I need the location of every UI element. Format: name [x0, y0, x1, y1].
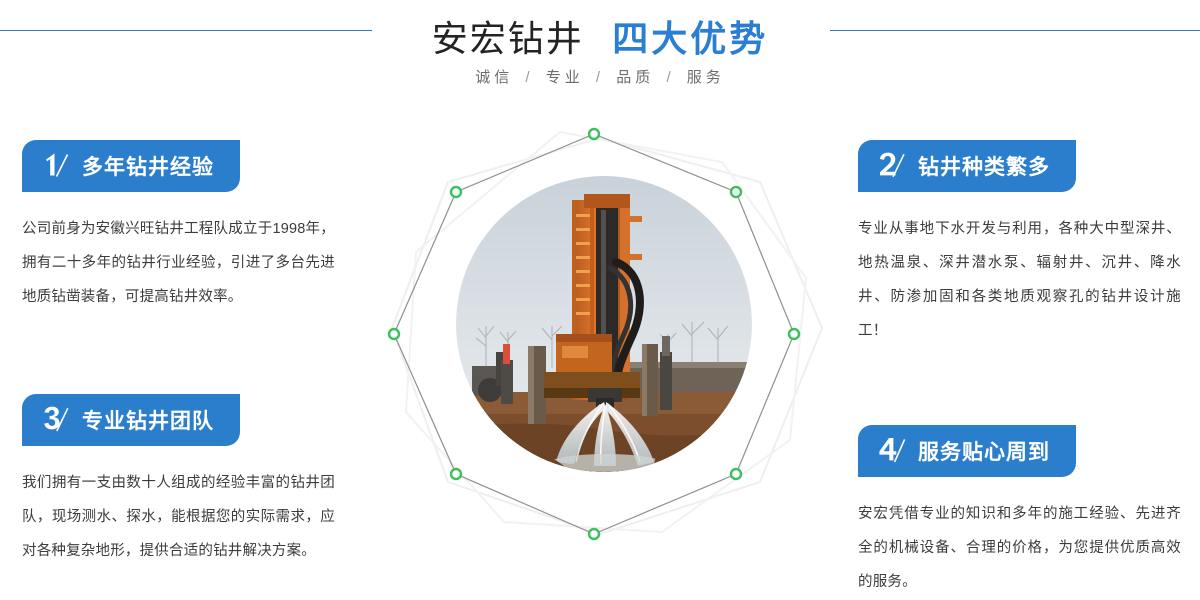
feature-card-4-badge: 服务贴心周到 [858, 425, 1076, 477]
ring-node-e [789, 329, 799, 339]
subtitle-item-4: 服务 [687, 69, 725, 86]
ring-node-n [589, 129, 599, 139]
center-graphic [370, 110, 830, 600]
drilling-rig-photo [456, 176, 752, 472]
feature-card-2: 钻井种类繁多 专业从事地下水开发与利用，各种大中型深井、地热温泉、深井潜水泵、辐… [858, 140, 1188, 348]
number-one-icon [40, 149, 70, 183]
feature-card-1-badge: 多年钻井经验 [22, 140, 240, 192]
feature-card-1-body: 公司前身为安徽兴旺钻井工程队成立于1998年，拥有二十多年的钻井行业经验，引进了… [22, 212, 335, 314]
ring-node-se [731, 469, 741, 479]
ring-node-w [389, 329, 399, 339]
feature-card-1: 多年钻井经验 公司前身为安徽兴旺钻井工程队成立于1998年，拥有二十多年的钻井行… [22, 140, 342, 314]
feature-card-2-body: 专业从事地下水开发与利用，各种大中型深井、地热温泉、深井潜水泵、辐射井、沉井、降… [858, 212, 1181, 348]
number-two-icon [876, 149, 906, 183]
feature-card-2-badge: 钻井种类繁多 [858, 140, 1076, 192]
feature-card-3-title: 专业钻井团队 [82, 405, 214, 435]
page-subtitle: 诚信 / 专业 / 品质 / 服务 [0, 66, 1200, 87]
subtitle-item-2: 专业 [546, 69, 584, 86]
title-main: 安宏钻井 [432, 18, 584, 59]
features-column-right: 钻井种类繁多 专业从事地下水开发与利用，各种大中型深井、地热温泉、深井潜水泵、辐… [858, 140, 1188, 599]
subtitle-separator-1: / [525, 69, 533, 86]
feature-card-4: 服务贴心周到 安宏凭借专业的知识和多年的施工经验、先进齐全的机械设备、合理的价格… [858, 425, 1188, 599]
subtitle-separator-3: / [666, 69, 674, 86]
feature-card-2-title: 钻井种类繁多 [918, 151, 1050, 181]
features-column-left: 多年钻井经验 公司前身为安徽兴旺钻井工程队成立于1998年，拥有二十多年的钻井行… [22, 140, 342, 568]
ring-node-s [589, 529, 599, 539]
feature-card-4-body: 安宏凭借专业的知识和多年的施工经验、先进齐全的机械设备、合理的价格，为您提供优质… [858, 497, 1181, 599]
subtitle-separator-2: / [596, 69, 604, 86]
title-accent: 四大优势 [612, 18, 768, 59]
ring-node-nw [451, 187, 461, 197]
feature-card-4-title: 服务贴心周到 [918, 436, 1050, 466]
page-title: 安宏钻井 四大优势 [0, 10, 1200, 62]
number-four-icon [876, 434, 906, 468]
feature-card-3-badge: 专业钻井团队 [22, 394, 240, 446]
feature-card-3: 专业钻井团队 我们拥有一支由数十人组成的经验丰富的钻井团队，现场测水、探水，能根… [22, 394, 342, 568]
feature-card-1-title: 多年钻井经验 [82, 151, 214, 181]
page-header: 安宏钻井 四大优势 诚信 / 专业 / 品质 / 服务 [0, 0, 1200, 110]
feature-card-3-body: 我们拥有一支由数十人组成的经验丰富的钻井团队，现场测水、探水，能根据您的实际需求… [22, 466, 335, 568]
subtitle-item-1: 诚信 [475, 69, 513, 86]
ring-node-sw [451, 469, 461, 479]
number-three-icon [40, 403, 70, 437]
subtitle-item-3: 品质 [616, 69, 654, 86]
ring-node-ne [731, 187, 741, 197]
